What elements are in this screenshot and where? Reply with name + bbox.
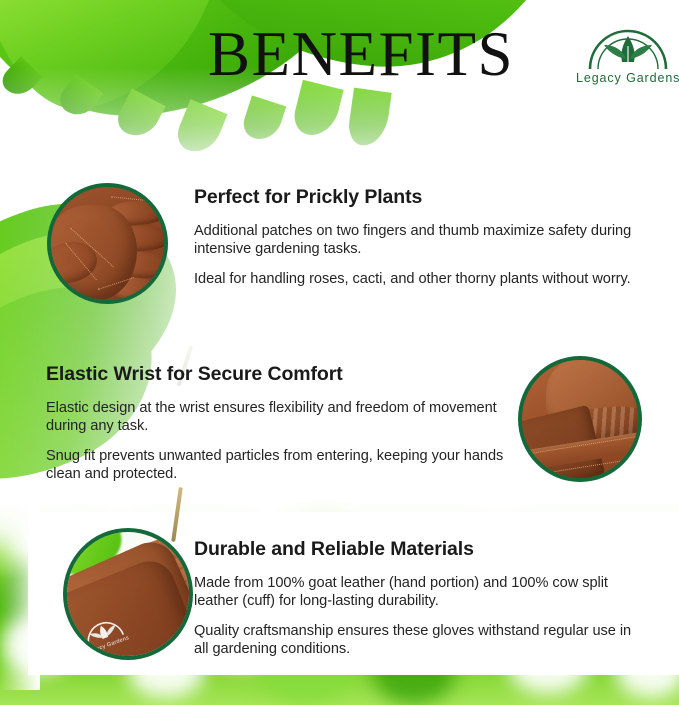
benefit-section-prickly-plants: Perfect for Prickly Plants Additional pa… (194, 186, 644, 288)
section-heading: Elastic Wrist for Secure Comfort (46, 363, 516, 386)
bokeh-blob (470, 504, 530, 540)
page-header: BENEFITS Legacy Gardens (0, 0, 679, 120)
photo-content (522, 360, 638, 478)
brand-logo: Legacy Gardens (576, 26, 679, 94)
section-paragraph: Made from 100% goat leather (hand portio… (194, 574, 644, 611)
benefit-section-elastic-wrist: Elastic Wrist for Secure Comfort Elastic… (46, 363, 516, 484)
section-paragraph: Elastic design at the wrist ensures flex… (46, 399, 516, 436)
bokeh-blob (240, 502, 296, 536)
section-paragraph: Quality craftsmanship ensures these glov… (194, 622, 644, 659)
section-heading: Durable and Reliable Materials (194, 538, 644, 561)
content-card-edge-fade (0, 500, 40, 690)
arch-leaf-emblem-icon (576, 26, 679, 70)
bokeh-blob (300, 498, 348, 538)
page-title: BENEFITS (196, 21, 526, 87)
section-heading: Perfect for Prickly Plants (194, 186, 644, 209)
photo-elastic-wrist-closeup (518, 356, 642, 482)
bokeh-blob (4, 616, 74, 674)
section-paragraph: Ideal for handling roses, cacti, and oth… (194, 270, 644, 288)
benefit-section-durable-materials: Durable and Reliable Materials Made from… (194, 538, 644, 659)
section-paragraph: Additional patches on two fingers and th… (194, 222, 644, 259)
brand-name: Legacy Gardens (576, 71, 679, 85)
photo-glove-palm-closeup (47, 183, 168, 304)
photo-full-gloves-pair: Legacy Gardens (63, 528, 193, 660)
photo-content: Legacy Gardens (67, 532, 189, 656)
section-paragraph: Snug fit prevents unwanted particles fro… (46, 447, 516, 484)
photo-content (51, 187, 164, 300)
infographic-page: BENEFITS Legacy Gardens (0, 0, 679, 705)
